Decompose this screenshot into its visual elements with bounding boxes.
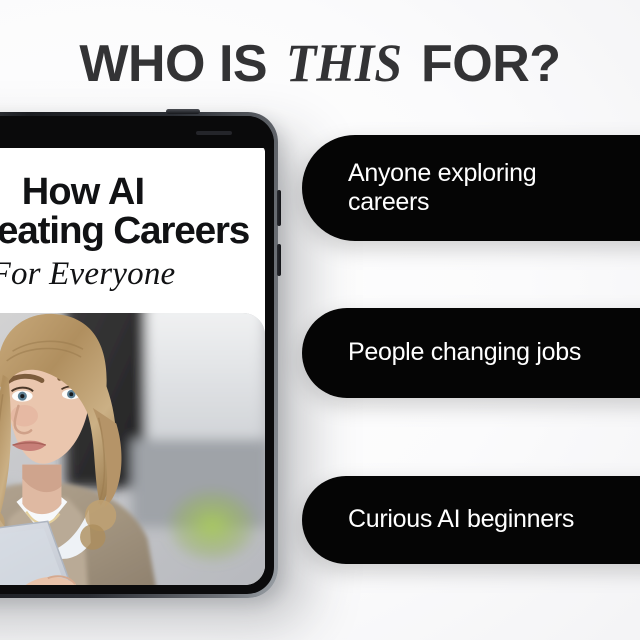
volume-down-button[interactable] — [277, 244, 281, 276]
tablet-screen[interactable]: How AI Is Creating Careers For Everyone — [0, 146, 265, 585]
audience-pill-2[interactable]: People changing jobs — [302, 308, 640, 398]
headline-part-1: WHO IS — [79, 35, 281, 93]
audience-pill-2-label: People changing jobs — [302, 338, 601, 368]
headline-emphasis: THIS — [286, 36, 402, 90]
poster-line-1: How AI — [0, 172, 265, 212]
headline-part-2: FOR? — [407, 35, 560, 93]
poster-line-2: Is Creating Careers — [0, 212, 265, 252]
tablet-frame: How AI Is Creating Careers For Everyone — [0, 112, 278, 598]
audience-pill-1-label: Anyone exploring careers — [302, 159, 556, 218]
page-title: WHO IS THIS FOR? — [0, 36, 640, 90]
poster-heading-group: How AI Is Creating Careers For Everyone — [0, 172, 265, 293]
volume-up-button[interactable] — [277, 190, 281, 226]
power-button[interactable] — [166, 109, 200, 114]
poster-line-3: For Everyone — [0, 256, 265, 293]
slide-canvas: { "headline": { "part1": "WHO IS ", "emp… — [0, 0, 640, 640]
woman-photo-illustration — [0, 313, 265, 585]
tablet-bezel: How AI Is Creating Careers For Everyone — [0, 116, 274, 594]
audience-pill-3-label: Curious AI beginners — [302, 505, 594, 535]
audience-pill-1[interactable]: Anyone exploring careers — [302, 135, 640, 241]
tablet-top-bezel — [0, 116, 274, 148]
tablet-device: How AI Is Creating Careers For Everyone — [0, 112, 278, 598]
audience-pill-3[interactable]: Curious AI beginners — [302, 476, 640, 564]
poster-photo — [0, 313, 265, 585]
speaker-grille-icon — [196, 131, 232, 135]
